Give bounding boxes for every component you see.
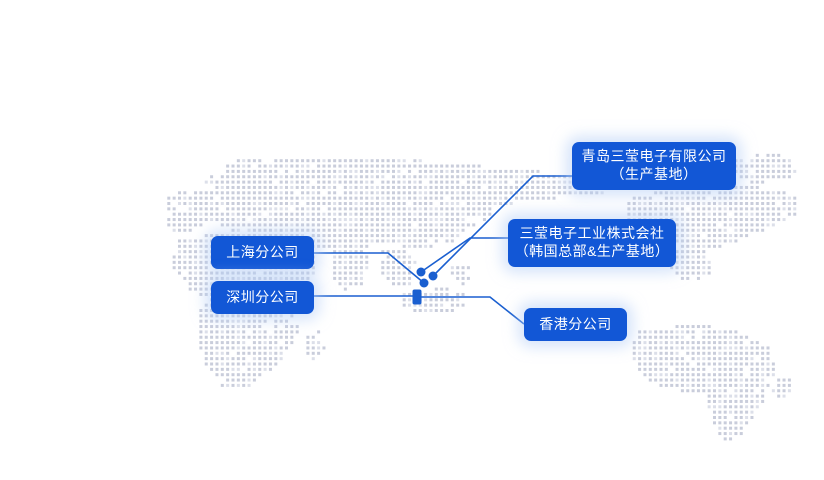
label-korea-line-1: 三莹电子工业株式会社: [520, 225, 665, 243]
marker-qingdao[interactable]: [429, 272, 438, 281]
world-map-background: [0, 0, 824, 480]
label-shenzhen-line-1: 深圳分公司: [226, 289, 299, 307]
label-shanghai[interactable]: 上海分公司: [211, 236, 314, 269]
marker-korea[interactable]: [417, 268, 426, 277]
label-korea[interactable]: 三莹电子工业株式会社 （韩国总部&生产基地）: [508, 219, 676, 267]
marker-hongkong[interactable]: [413, 296, 422, 305]
world-map-dots: [0, 0, 824, 480]
label-qingdao[interactable]: 青岛三莹电子有限公司 （生产基地）: [572, 142, 736, 190]
label-shanghai-line-1: 上海分公司: [226, 244, 299, 262]
label-shenzhen[interactable]: 深圳分公司: [211, 281, 314, 314]
label-korea-line-2: （韩国总部&生产基地）: [515, 243, 670, 261]
marker-shanghai[interactable]: [420, 279, 429, 288]
label-hongkong[interactable]: 香港分公司: [524, 308, 627, 341]
label-hongkong-line-1: 香港分公司: [539, 316, 612, 334]
label-qingdao-line-2: （生产基地）: [611, 166, 698, 184]
global-locations-map: 青岛三莹电子有限公司 （生产基地） 三莹电子工业株式会社 （韩国总部&生产基地）…: [0, 0, 824, 480]
label-qingdao-line-1: 青岛三莹电子有限公司: [582, 148, 727, 166]
